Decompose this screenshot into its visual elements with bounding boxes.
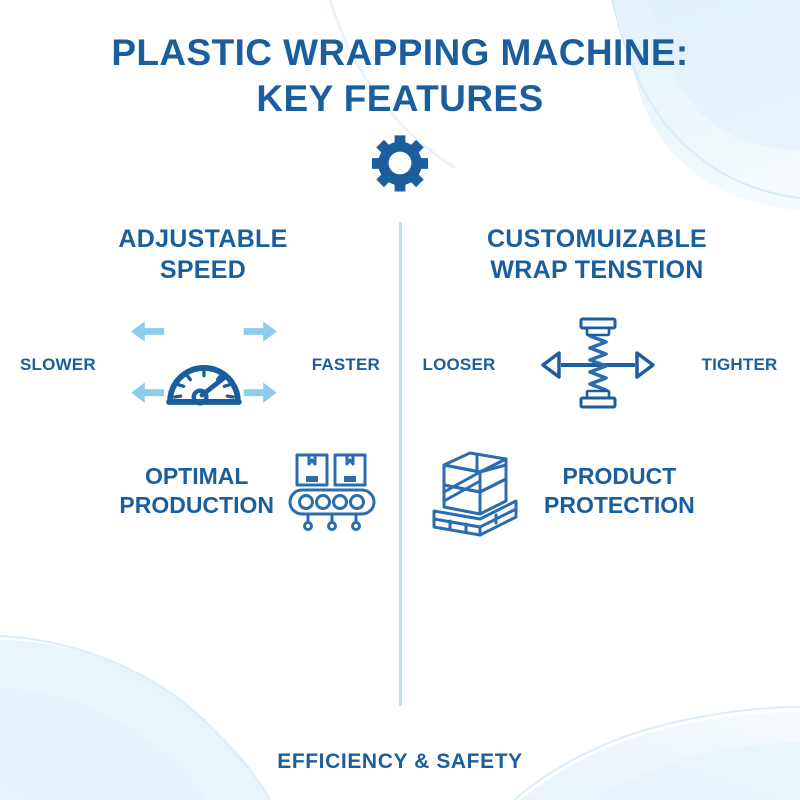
optimal-production-line-2: PRODUCTION [119, 491, 274, 520]
optimal-production-label: OPTIMAL PRODUCTION [119, 462, 274, 520]
spring-top-collar [587, 328, 609, 335]
adjustable-speed-illustration: SLOWER [20, 310, 380, 420]
corner-shape-bottom-left-inner [0, 688, 208, 800]
arrow-down-right-icon [244, 382, 277, 402]
optimal-production-feature: OPTIMAL PRODUCTION [95, 443, 380, 538]
right-heading-line-1: CUSTOMUIZABLE [402, 224, 792, 255]
conveyor-belt-icon [284, 448, 380, 534]
package-box-2-tape [344, 476, 356, 482]
left-heading-line-1: ADJUSTABLE [8, 224, 398, 255]
gauge-hub [194, 391, 207, 404]
page-title: PLASTIC WRAPPING MACHINE: KEY FEATURES [0, 30, 800, 122]
column-left: ADJUSTABLE SPEED [8, 224, 398, 286]
arrow-down-left-icon [131, 382, 164, 402]
arrow-left-outline-icon [543, 353, 559, 377]
right-heading-line-2: WRAP TENSTION [402, 255, 792, 286]
conveyor-roller-4 [351, 495, 364, 508]
title-line-2: KEY FEATURES [0, 76, 800, 122]
column-right: CUSTOMUIZABLE WRAP TENSTION [402, 224, 792, 286]
spring-label-tighter: TIGHTER [701, 355, 777, 375]
conveyor-foot-1 [305, 522, 312, 529]
corner-line-bottom-left [0, 636, 270, 800]
gauge-label-faster: FASTER [312, 355, 380, 375]
title-line-1: PLASTIC WRAPPING MACHINE: [0, 30, 800, 76]
product-protection-line-2: PROTECTION [544, 491, 695, 520]
conveyor-foot-3 [353, 522, 360, 529]
conveyor-roller-1 [300, 495, 313, 508]
corner-shape-bottom-left [0, 640, 268, 800]
conveyor-roller-3 [334, 495, 347, 508]
arrow-right-outline-icon [637, 353, 653, 377]
gear-icon-container [370, 133, 430, 193]
conveyor-foot-2 [329, 522, 336, 529]
footer-tagline: EFFICIENCY & SAFETY [0, 750, 800, 774]
arrow-up-left-icon [131, 321, 164, 341]
spring-label-looser: LOOSER [422, 355, 495, 375]
infographic-poster: PLASTIC WRAPPING MACHINE: KEY FEATURES A… [0, 0, 800, 800]
wrap-band-upper [444, 465, 506, 492]
product-protection-label: PRODUCT PROTECTION [544, 462, 695, 520]
arrow-up-right-icon [244, 321, 277, 341]
wrap-tension-illustration: LOOSER TIGHTER [415, 310, 785, 420]
product-protection-line-1: PRODUCT [544, 462, 695, 491]
package-box-1-tape [306, 476, 318, 482]
gauge-label-slower: SLOWER [20, 355, 96, 375]
optimal-production-line-1: OPTIMAL [119, 462, 274, 491]
column-divider [399, 222, 402, 706]
speedometer-icon [102, 311, 306, 419]
wrapped-pallet-icon [420, 445, 530, 537]
spring-top-plate [581, 319, 615, 328]
right-column-heading: CUSTOMUIZABLE WRAP TENSTION [402, 224, 792, 286]
conveyor-roller-2 [317, 495, 330, 508]
product-protection-feature: PRODUCT PROTECTION [420, 443, 720, 538]
left-column-heading: ADJUSTABLE SPEED [8, 224, 398, 286]
left-heading-line-2: SPEED [8, 255, 398, 286]
gear-icon [370, 133, 430, 193]
spring-tension-icon [503, 311, 693, 419]
spring-bottom-plate [581, 398, 615, 407]
